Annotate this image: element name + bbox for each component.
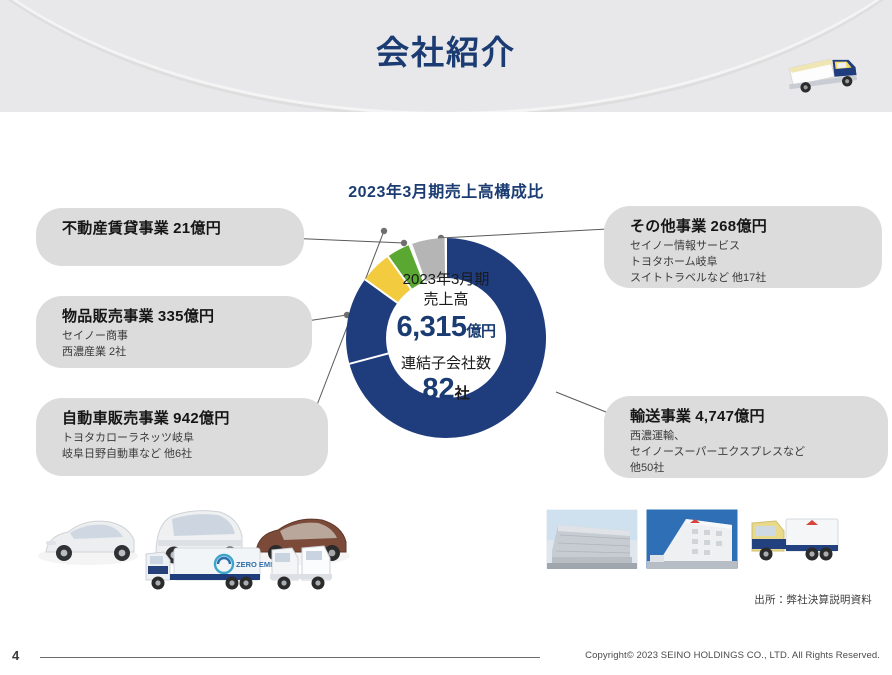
callout-transport-value: 4,747億円 (695, 408, 765, 425)
callout-auto-sub: トヨタカローラネッツ岐阜 岐阜日野自動車など 他6社 (62, 431, 310, 463)
callout-other-title: その他事業268億円 (630, 215, 864, 236)
callout-realestate-value: 21億円 (173, 220, 221, 237)
facility-photos (546, 505, 842, 573)
vehicle-photos-trucks: ZERO EMISSION (140, 536, 350, 600)
slide: 会社紹介 2023年3月期売上高構成比 (0, 0, 892, 675)
callout-auto: 自動車販売事業942億円 トヨタカローラネッツ岐阜 岐阜日野自動車など 他6社 (36, 398, 328, 476)
photo-seino-truck (746, 509, 842, 569)
callout-auto-title: 自動車販売事業942億円 (62, 407, 310, 428)
footer-copyright: Copyright© 2023 SEINO HOLDINGS CO., LTD.… (540, 650, 880, 661)
callout-goods-value: 335億円 (158, 308, 215, 325)
donut-svg (316, 208, 576, 468)
callout-realestate-title: 不動産賃貸事業21億円 (62, 217, 286, 238)
donut-chart: 2023年3月期 売上高 6,315億円 連結子会社数 82社 (316, 208, 576, 468)
callout-other-value: 268億円 (711, 218, 768, 235)
callout-transport: 輸送事業4,747億円 西濃運輸、 セイノースーパーエクスプレスなど 他50社 (604, 396, 888, 478)
source-note: 出所：弊社決算説明資料 (622, 592, 872, 607)
photo-warehouse-1 (546, 509, 638, 569)
callout-realestate: 不動産賃貸事業21億円 (36, 208, 304, 266)
truck-icon (784, 52, 864, 94)
callout-transport-sub-line: 他50社 (630, 461, 870, 477)
callout-goods-sub-line: 西濃産業 2社 (62, 345, 294, 361)
callout-transport-sub-line: セイノースーパーエクスプレスなど (630, 445, 870, 461)
callout-auto-value: 942億円 (173, 410, 230, 427)
car-sedan-white (38, 521, 138, 565)
callout-auto-sub-line: トヨタカローラネッツ岐阜 (62, 431, 310, 447)
callout-goods-sub: セイノー商事 西濃産業 2社 (62, 329, 294, 361)
page-number: 4 (12, 648, 19, 663)
callout-other-sub-line: スイトトラベルなど 他17社 (630, 271, 864, 287)
callout-auto-sub-line: 岐阜日野自動車など 他6社 (62, 447, 310, 463)
truck-tractor-white (270, 546, 332, 590)
photo-warehouse-2 (646, 509, 738, 569)
callout-transport-title: 輸送事業4,747億円 (630, 405, 870, 426)
callout-other-sub: セイノー情報サービス トヨタホーム岐阜 スイトトラベルなど 他17社 (630, 239, 864, 287)
callout-goods-sub-line: セイノー商事 (62, 329, 294, 345)
callout-transport-sub: 西濃運輸、 セイノースーパーエクスプレスなど 他50社 (630, 429, 870, 477)
page-title: 会社紹介 (0, 26, 892, 74)
callout-other-sub-line: トヨタホーム岐阜 (630, 255, 864, 271)
callout-goods-title: 物品販売事業335億円 (62, 305, 294, 326)
callout-goods: 物品販売事業335億円 セイノー商事 西濃産業 2社 (36, 296, 312, 368)
footer-divider (40, 657, 540, 658)
callout-other-sub-line: セイノー情報サービス (630, 239, 864, 255)
chart-heading: 2023年3月期売上高構成比 (296, 178, 596, 202)
callout-other: その他事業268億円 セイノー情報サービス トヨタホーム岐阜 スイトトラベルなど… (604, 206, 882, 288)
callout-transport-sub-line: 西濃運輸、 (630, 429, 870, 445)
